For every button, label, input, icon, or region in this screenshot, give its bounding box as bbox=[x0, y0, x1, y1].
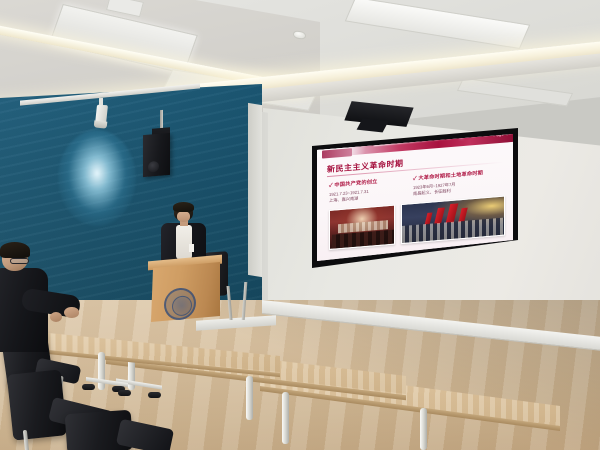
crowd-silhouette bbox=[402, 217, 505, 243]
table-caster bbox=[148, 392, 161, 398]
slide-photo-meeting bbox=[329, 205, 395, 250]
conference-room-scene: Page 4 新民主主义革命时期 ✓ 中国共产党的创立 1921.7.23~19… bbox=[0, 0, 600, 450]
table-leg bbox=[98, 352, 105, 390]
presenter-hair bbox=[173, 202, 194, 212]
wall-corner-edge bbox=[248, 103, 262, 277]
seated-attendee-hand bbox=[64, 307, 79, 318]
slide-logo-icon bbox=[322, 148, 352, 158]
presenter-shirt bbox=[176, 225, 192, 259]
slide-photo-crowd bbox=[401, 196, 505, 245]
presenter-face bbox=[177, 211, 190, 222]
table-leg bbox=[420, 408, 427, 450]
table-caster bbox=[118, 390, 131, 396]
seated-attendee-hand bbox=[50, 312, 62, 322]
table-caster bbox=[82, 384, 95, 390]
track-spotlight-lens bbox=[94, 120, 108, 128]
red-flag bbox=[446, 203, 459, 223]
wall-display-screen[interactable]: Page 4 新民主主义革命时期 ✓ 中国共产党的创立 1921.7.23~19… bbox=[317, 133, 513, 261]
table-leg bbox=[282, 392, 289, 444]
table-leg bbox=[246, 376, 253, 420]
presenter-badge bbox=[189, 244, 194, 252]
presentation-slide: Page 4 新民主主义革命时期 ✓ 中国共产党的创立 1921.7.23~19… bbox=[317, 133, 513, 261]
eyeglasses-icon bbox=[10, 258, 29, 264]
seated-attendee-hair bbox=[0, 242, 30, 258]
slide-column-left: ✓ 中国共产党的创立 1921.7.23~1921.7.31 上海、嘉兴南湖 bbox=[329, 176, 407, 205]
slide-column-right: ✓ 大革命时期和土地革命时期 1923年6月~1927年7月 南昌起义、长征胜利 bbox=[413, 167, 507, 197]
slide-column-detail: 1921.7.23~1921.7.31 上海、嘉兴南湖 bbox=[329, 186, 407, 205]
spotlight-glow bbox=[58, 130, 136, 226]
wall-speaker bbox=[143, 133, 170, 177]
